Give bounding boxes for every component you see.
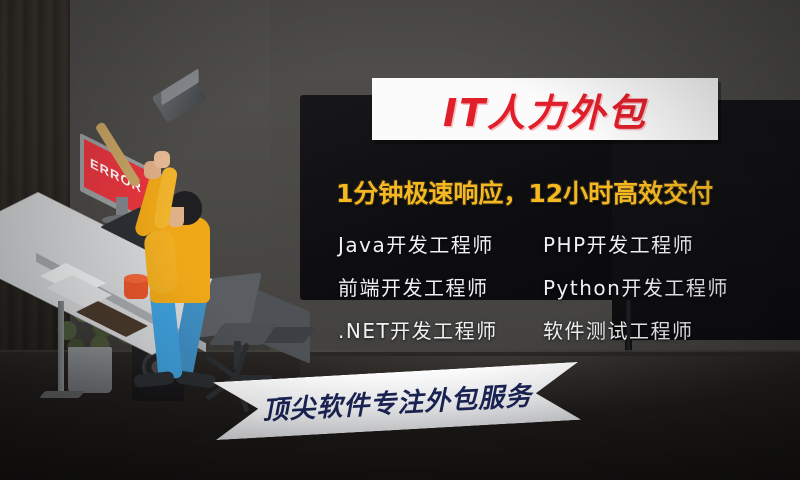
poster-canvas: ERROR — [0, 0, 800, 480]
job-item-qa: 软件测试工程师 — [543, 315, 694, 344]
plant-pot — [68, 347, 112, 393]
desk-foot — [39, 391, 85, 398]
page-title: IT人力外包 — [443, 82, 647, 137]
job-item-frontend: 前端开发工程师 — [338, 272, 543, 301]
job-item-python: Python开发工程师 — [543, 272, 729, 301]
job-item-dotnet: .NET开发工程师 — [338, 315, 543, 344]
monitor-neck — [116, 197, 128, 215]
coffee-mug-top — [124, 274, 148, 283]
job-item-php: PHP开发工程师 — [543, 229, 694, 258]
job-row: 前端开发工程师 Python开发工程师 — [338, 265, 758, 308]
person-hand-upper — [154, 151, 170, 168]
ribbon-text: 顶尖软件专注外包服务 — [261, 375, 533, 427]
subtitle-text: 1分钟极速响应，12小时高效交付 — [336, 174, 786, 210]
job-row: .NET开发工程师 软件测试工程师 — [338, 308, 758, 351]
job-row: Java开发工程师 PHP开发工程师 — [338, 222, 758, 265]
title-banner: IT人力外包 — [372, 78, 718, 140]
person-torso-shade — [143, 230, 178, 294]
job-item-java: Java开发工程师 — [338, 229, 543, 258]
illustration-group: ERROR — [28, 55, 328, 385]
job-list: Java开发工程师 PHP开发工程师 前端开发工程师 Python开发工程师 .… — [338, 222, 758, 351]
desk-leg — [58, 301, 64, 397]
